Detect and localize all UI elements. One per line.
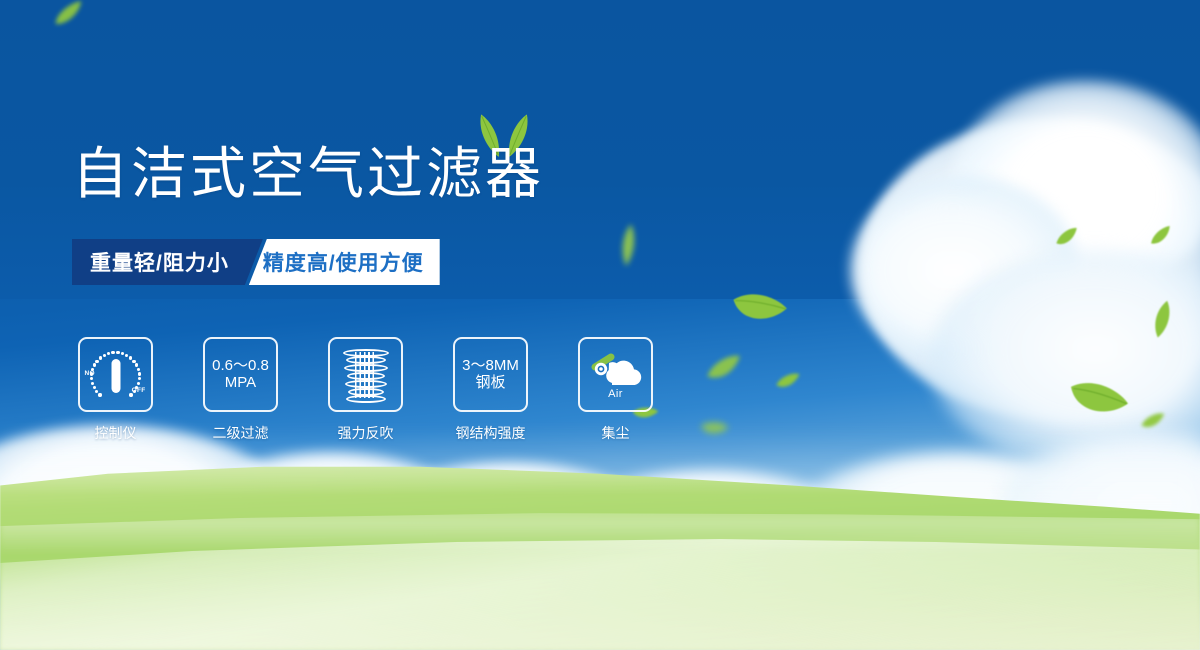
feature-label: 强力反吹 — [338, 423, 394, 443]
dial-tick — [111, 351, 114, 354]
filter-disc — [345, 380, 387, 388]
filter-disc — [343, 349, 389, 357]
dial-tick — [98, 393, 101, 396]
subtitle-bar: 重量轻/阻力小 精度高/使用方便 — [72, 239, 440, 285]
feature-item-strong-backblow[interactable]: 强力反吹 — [328, 337, 403, 443]
feature-list: NO OFF 控制仪 0.6～0.8 MPA 二级过滤 — [78, 337, 653, 443]
feature-icon-box: NO OFF — [78, 337, 153, 412]
dial-tick — [116, 351, 119, 354]
pressure-unit: MPA — [212, 375, 269, 392]
feature-label: 控制仪 — [95, 423, 137, 443]
dial-gauge-icon: NO OFF — [86, 347, 146, 403]
feature-label: 二级过滤 — [213, 423, 269, 443]
feature-item-steel-strength[interactable]: 3～8MM 钢板 钢结构强度 — [453, 337, 528, 443]
filter-stack-icon — [340, 347, 392, 403]
feature-icon-box: 0.6～0.8 MPA — [203, 337, 278, 412]
dial-tick — [133, 390, 136, 393]
dial-tick — [107, 352, 110, 355]
filter-disc — [344, 364, 388, 372]
dial-tick — [91, 382, 94, 385]
air-icon-label: Air — [587, 388, 645, 400]
dial-tick — [93, 386, 96, 389]
dial-tick — [95, 360, 98, 363]
filter-disc — [346, 356, 386, 364]
dial-tick — [93, 363, 96, 366]
dial-tick — [135, 363, 138, 366]
subtitle-left: 重量轻/阻力小 — [72, 239, 263, 285]
feature-item-control-unit[interactable]: NO OFF 控制仪 — [78, 337, 153, 443]
dial-tick — [137, 368, 140, 371]
feature-item-two-stage-filter[interactable]: 0.6～0.8 MPA 二级过滤 — [203, 337, 278, 443]
dial-tick — [129, 356, 132, 359]
dial-tick — [138, 372, 141, 375]
page-title: 自洁式空气过滤器 — [72, 146, 544, 202]
dial-tick — [90, 372, 93, 375]
dial-tick — [99, 356, 102, 359]
steel-material: 钢板 — [462, 375, 519, 392]
feature-label: 钢结构强度 — [456, 423, 526, 443]
dial-tick — [90, 377, 93, 380]
steel-text-icon: 3～8MM 钢板 — [462, 358, 519, 392]
filter-disc — [346, 395, 386, 403]
dial-tick — [121, 352, 124, 355]
banner-content: 自洁式空气过滤器 重量轻/阻力小 精度高/使用方便 NO OFF 控制仪 — [0, 0, 1200, 650]
feature-icon-box: 3～8MM 钢板 — [453, 337, 528, 412]
feature-icon-box: Air — [578, 337, 653, 412]
dial-tick — [132, 360, 135, 363]
dial-tick — [129, 393, 132, 396]
feature-icon-box — [328, 337, 403, 412]
subtitle-right: 精度高/使用方便 — [249, 239, 440, 285]
steel-thickness: 3～8MM — [462, 357, 519, 374]
dial-needle — [111, 359, 120, 393]
feature-label: 集尘 — [602, 423, 630, 443]
dial-tick — [125, 354, 128, 357]
dial-tick — [103, 354, 106, 357]
filter-disc — [348, 388, 384, 396]
cloud-air-icon: Air — [587, 353, 645, 397]
feature-item-dust-collection[interactable]: Air 集尘 — [578, 337, 653, 443]
filter-disc — [347, 372, 385, 380]
pressure-text-icon: 0.6～0.8 MPA — [212, 358, 269, 392]
dial-tick — [137, 382, 140, 385]
pressure-range: 0.6～0.8 — [212, 357, 269, 374]
product-banner: 自洁式空气过滤器 重量轻/阻力小 精度高/使用方便 NO OFF 控制仪 — [0, 0, 1200, 650]
dial-tick — [138, 377, 141, 380]
